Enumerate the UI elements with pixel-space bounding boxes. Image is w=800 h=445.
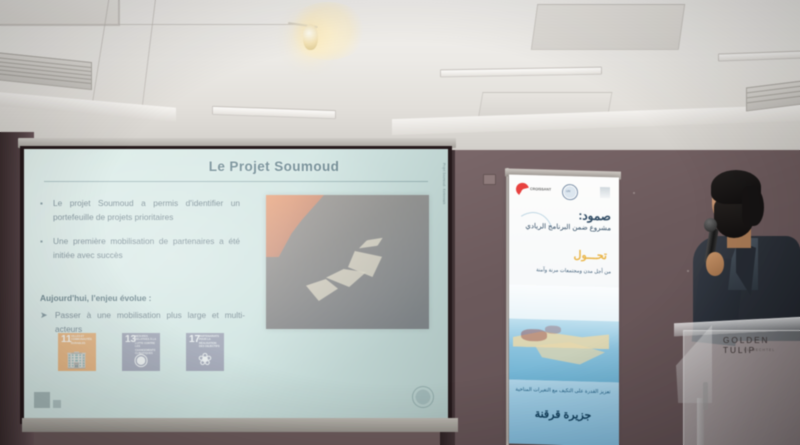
banner-highlight-word: تحـــول (573, 248, 607, 262)
sdg-17-partnerships-icon: 17 PARTENARIATS POUR LA RÉALISATION DES … (186, 333, 224, 371)
ceiling-tile (0, 0, 120, 26)
banner-footer-text: تعزيز القدرة على التكيف مع التغيرات المن… (513, 387, 613, 397)
slide-organisation-logo (412, 386, 434, 408)
ceiling-recess (531, 4, 685, 50)
rollup-banner: CROISSANT UN صمود: مشروع ضمن البرنامج ال… (509, 174, 619, 445)
ceiling-soffit (0, 92, 176, 121)
ceiling-seam (141, 0, 156, 112)
sdg-glyph-icon: ◉ (122, 351, 160, 369)
ceiling-light-slot (718, 50, 800, 61)
bullet-text: Le projet Soumoud a permis d'identifier … (53, 197, 240, 224)
speaker-hair-back (742, 186, 764, 226)
slide-decoration-square (34, 392, 50, 408)
un-emblem-logo: UN (562, 184, 578, 200)
sdg-caption: PARTENARIATS POUR LA RÉALISATION DES OBJ… (199, 335, 222, 349)
slide-bullet-list: ▪ Le projet Soumoud a permis d'identifie… (40, 197, 240, 273)
bullet-dot-icon: ▪ (40, 197, 47, 224)
list-item: ▪ Le projet Soumoud a permis d'identifie… (40, 197, 240, 224)
bullet-dot-icon: ▪ (40, 235, 47, 262)
sdg-caption: VILLES ET COMMUNAUTÉS DURABLES (71, 335, 94, 345)
croissant-rouge-wordmark: CROISSANT (530, 187, 551, 192)
slide-lead-in: Aujourd'hui, l'enjeu évolue : (40, 293, 151, 303)
banner-decorative-curve (509, 205, 563, 290)
spotlight-glow (288, 2, 368, 60)
banner-location: جزيرة قرقنة (513, 407, 613, 423)
banner-illustration (509, 284, 619, 382)
speaker-hand (706, 252, 724, 276)
banner-vegetation (521, 329, 547, 342)
banner-logo-row: CROISSANT UN (514, 181, 614, 204)
banner-title: صمود: (578, 208, 611, 223)
partner-logo (600, 187, 610, 198)
projection-screen: Le Projet Soumoud ▪ Le projet Soumoud a … (24, 149, 448, 418)
bullet-text: Une première mobilisation de partenaires… (53, 235, 240, 262)
venue-brand-text: GOLDEN TULIP (723, 335, 800, 355)
podium-handle (703, 382, 708, 410)
projection-screen-bottom-bar (22, 418, 458, 432)
venue-sub-text: EL MECHTEL (744, 348, 775, 352)
bullet-text: Passer à une mobilisation plus large et … (55, 309, 245, 336)
sdg-icon-row: 11 VILLES ET COMMUNAUTÉS DURABLES 🏢 13 M… (58, 333, 224, 371)
slide-title: Le Projet Soumoud (144, 159, 404, 174)
ceiling-light-slot (212, 106, 336, 119)
sdg-11-cities-icon: 11 VILLES ET COMMUNAUTÉS DURABLES 🏢 (58, 333, 96, 371)
list-item: ▪ Une première mobilisation de partenair… (40, 235, 240, 262)
slide-decoration-square (53, 400, 61, 408)
banner-vegetation (545, 325, 561, 333)
sdg-number: 11 (61, 334, 72, 345)
sdg-glyph-icon: ❀ (186, 351, 224, 369)
sdg-glyph-icon: 🏢 (58, 351, 96, 369)
wall-socket (483, 174, 496, 185)
ceiling-seam (0, 24, 300, 25)
slide-side-note: Projet Soumoud - Kerkennah (437, 163, 446, 268)
croissant-rouge-logo (516, 183, 529, 196)
ceiling-light-slot (440, 67, 602, 78)
conference-photo-scene: Le Projet Soumoud ▪ Le projet Soumoud a … (0, 0, 800, 445)
slide-aerial-photo (266, 195, 429, 329)
bullet-arrow-icon: ➤ (40, 309, 49, 336)
photo-haze-overlay (266, 195, 429, 329)
ceiling-air-vent (0, 52, 92, 90)
ceiling-seam (118, 0, 119, 24)
sdg-13-climate-icon: 13 MESURES RELATIVES À LA LUTTE CONTRE L… (122, 333, 160, 371)
ceiling (0, 0, 800, 150)
slide-title-rule (44, 181, 428, 182)
spotlight-head-icon (303, 24, 318, 50)
list-item: ➤ Passer à une mobilisation plus large e… (40, 309, 245, 336)
